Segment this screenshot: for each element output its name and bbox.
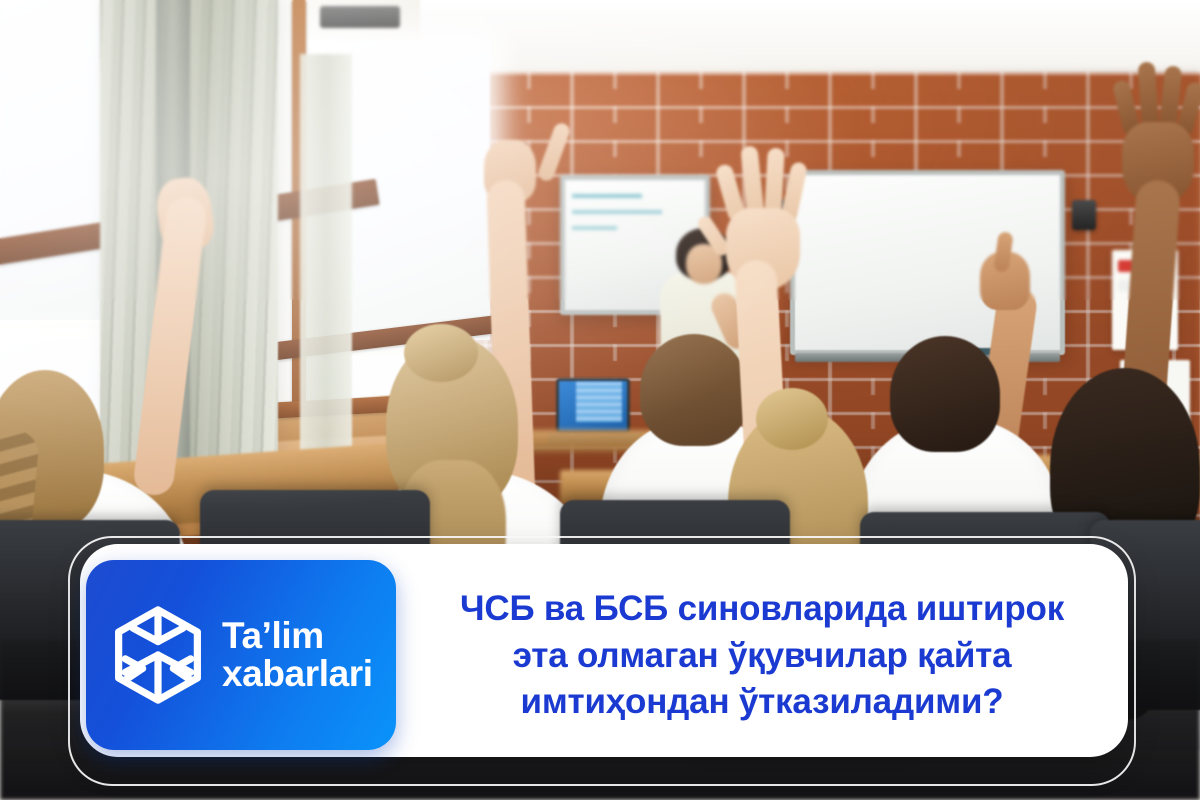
student-hair [640, 334, 748, 446]
headline-line-3: имтиҳондан ўтказиладими? [521, 679, 1004, 726]
wall-speaker [1072, 200, 1096, 230]
screenshot-stage: Ta’lim xabarlari ЧСБ ва БСБ синовларида … [0, 0, 1200, 800]
hair-bun [756, 388, 828, 450]
cube-logo-icon [110, 605, 206, 705]
wall-vent [320, 6, 400, 28]
curtain [300, 54, 352, 474]
brand-line-2: xabarlari [222, 655, 373, 693]
brand-wordmark: Ta’lim xabarlari [222, 617, 373, 694]
laptop-screen-content [576, 382, 622, 422]
headline-line-1: ЧСБ ва БСБ синовларида иштирок [460, 586, 1064, 633]
headline-line-2: эта олмаган ўқувчилар қайта [513, 633, 1012, 680]
hair-bun [404, 324, 478, 382]
brand-line-1: Ta’lim [222, 617, 373, 655]
student-hair [890, 336, 1000, 452]
headline-block: ЧСБ ва БСБ синовларида иштирок эта олмаг… [404, 566, 1120, 746]
brand-logo-badge[interactable]: Ta’lim xabarlari [86, 560, 396, 750]
whiteboard-writing [572, 190, 692, 238]
